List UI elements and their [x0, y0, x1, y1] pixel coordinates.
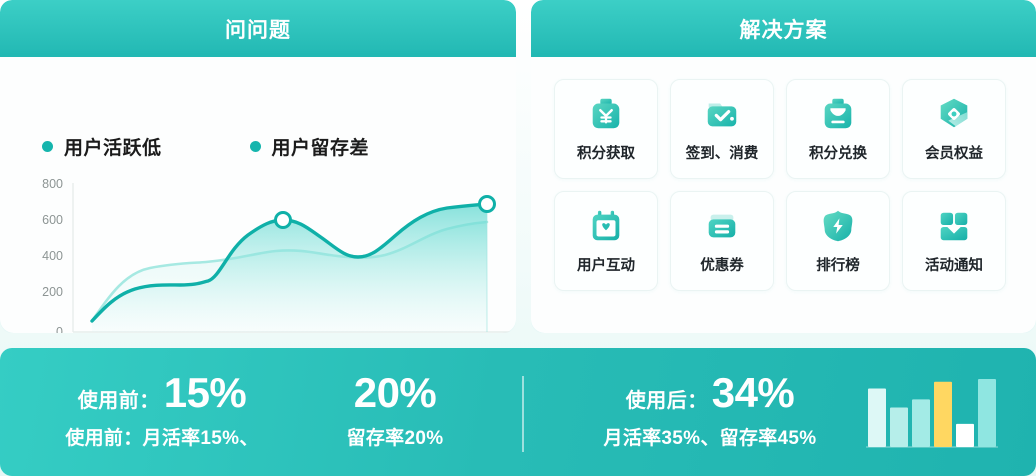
y-axis-ticks: 800 600 400 200 0: [42, 177, 63, 333]
calendar-heart-icon: [587, 207, 625, 245]
trend-area-chart: 800 600 400 200 0: [0, 175, 516, 333]
stat-retention-value: 20%: [354, 372, 437, 414]
notification-grid-icon: [935, 207, 973, 245]
legend-dot-icon: [250, 141, 261, 152]
legend-dot-icon: [42, 141, 53, 152]
ranking-shield-icon: [819, 207, 857, 245]
solution-panel-body: 积分获取 签到、消费: [531, 57, 1036, 333]
solution-item-label: 会员权益: [925, 142, 983, 163]
problem-panel-body: 用户活跃低 用户留存差: [0, 57, 516, 333]
problem-panel-title: 问问题: [225, 14, 291, 44]
legend-item-active: 用户活跃低: [42, 133, 162, 160]
solution-item-label: 用户互动: [577, 254, 635, 275]
solution-item-label: 积分兑换: [809, 142, 867, 163]
stat-before-top: 使用前： 15%: [78, 372, 247, 414]
stat-after-sub: 月活率35%、留存率45%: [604, 423, 817, 450]
y-tick: 400: [42, 249, 63, 263]
legend-label-active: 用户活跃低: [64, 133, 162, 160]
stat-after-usage: 使用后： 34% 月活率35%、留存率45%: [560, 372, 860, 450]
problem-panel: 问问题 用户活跃低 用户留存差: [0, 0, 516, 333]
solution-item-coupon[interactable]: 优惠券: [670, 191, 774, 291]
solution-item-label: 排行榜: [816, 254, 860, 275]
mini-bar: [978, 379, 996, 447]
chart-marker-may[interactable]: [276, 213, 291, 228]
solution-item-points-earn[interactable]: 积分获取: [554, 79, 658, 179]
legend-item-retention: 用户留存差: [250, 133, 370, 160]
solution-icon-grid: 积分获取 签到、消费: [554, 79, 1014, 291]
stat-before-sub: 使用前：月活率15%、: [65, 423, 258, 450]
page-root: 问问题 用户活跃低 用户留存差: [0, 0, 1036, 476]
stat-retention-top: 20%: [354, 372, 437, 414]
solution-item-label: 优惠券: [700, 254, 744, 275]
member-badge-icon: [935, 95, 973, 133]
checkin-wallet-icon: [703, 95, 741, 133]
yen-points-icon: [587, 95, 625, 133]
y-tick: 200: [42, 285, 63, 299]
solution-panel-header: 解决方案: [531, 0, 1036, 57]
solution-item-checkin-spend[interactable]: 签到、消费: [670, 79, 774, 179]
mini-bar: [868, 389, 886, 447]
stat-retention: 20% 留存率20%: [300, 372, 490, 450]
stat-after-top: 使用后： 34%: [626, 372, 795, 414]
chart-svg: 800 600 400 200 0: [0, 175, 516, 333]
redeem-envelope-icon: [819, 95, 857, 133]
y-tick: 600: [42, 213, 63, 227]
chart-marker-sep[interactable]: [480, 197, 495, 212]
solution-panel-title: 解决方案: [740, 14, 828, 44]
stat-retention-sub: 留存率20%: [347, 423, 444, 450]
stat-before-prefix: 使用前：: [78, 384, 160, 413]
solution-item-label: 活动通知: [925, 254, 983, 275]
stat-before-usage: 使用前： 15% 使用前：月活率15%、: [52, 372, 272, 450]
solution-item-points-redeem[interactable]: 积分兑换: [786, 79, 890, 179]
stat-after-value: 34%: [712, 372, 795, 414]
mini-bar: [934, 382, 952, 447]
solution-item-label: 积分获取: [577, 142, 635, 163]
mini-bar: [890, 408, 908, 447]
mini-bar: [912, 399, 930, 447]
mini-bar-chart: [866, 372, 998, 450]
solution-item-member-benefit[interactable]: 会员权益: [902, 79, 1006, 179]
banner-divider: [522, 376, 524, 452]
mini-bar: [956, 424, 974, 447]
y-tick: 800: [42, 177, 63, 191]
chart-legend: 用户活跃低 用户留存差: [42, 133, 369, 160]
legend-label-retention: 用户留存差: [272, 133, 370, 160]
solution-panel: 解决方案 积分获取: [531, 0, 1036, 333]
solution-item-user-interaction[interactable]: 用户互动: [554, 191, 658, 291]
stat-before-value: 15%: [164, 372, 247, 414]
solution-item-activity-notice[interactable]: 活动通知: [902, 191, 1006, 291]
coupon-icon: [703, 207, 741, 245]
stat-after-prefix: 使用后：: [626, 384, 708, 413]
problem-panel-header: 问问题: [0, 0, 516, 57]
solution-item-label: 签到、消费: [686, 142, 759, 163]
solution-item-leaderboard[interactable]: 排行榜: [786, 191, 890, 291]
y-tick: 0: [56, 325, 63, 333]
